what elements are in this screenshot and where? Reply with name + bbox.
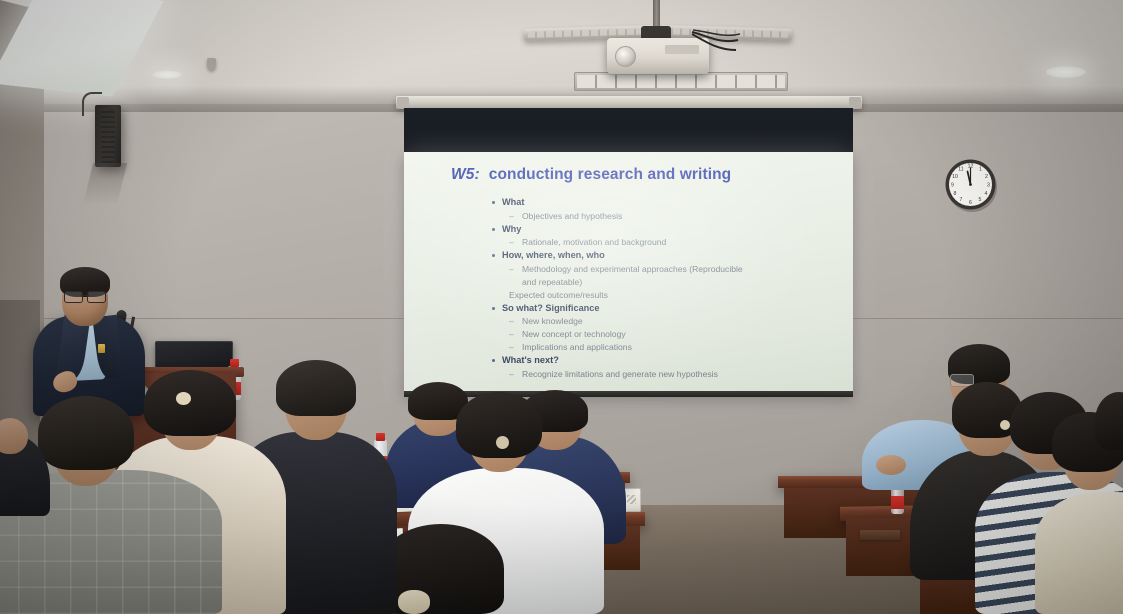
sprinkler-head-icon (207, 58, 216, 70)
slide-bullet: Objectives and hypothesis (490, 210, 843, 222)
svg-text:9: 9 (951, 183, 954, 189)
clock-icon: 12 1 2 3 4 5 6 7 8 9 10 11 (943, 157, 998, 212)
svg-text:6: 6 (969, 200, 972, 206)
lecture-hall-photo: 12 1 2 3 4 5 6 7 8 9 10 11 W5:conducti (0, 0, 1123, 614)
svg-text:11: 11 (958, 167, 963, 173)
wall-clock: 12 1 2 3 4 5 6 7 8 9 10 11 (943, 157, 998, 212)
svg-text:2: 2 (985, 174, 988, 180)
svg-text:1: 1 (979, 167, 982, 173)
slide-bullet-list: What Objectives and hypothesis Why Ratio… (490, 196, 843, 381)
slide-title: W5:conducting research and writing (451, 166, 731, 184)
slide-bullet: What's next? (490, 354, 843, 367)
presenter-badge (98, 344, 105, 353)
svg-text:4: 4 (985, 191, 988, 197)
projector-cables (690, 28, 742, 62)
svg-text:5: 5 (979, 197, 982, 203)
svg-text:7: 7 (960, 197, 963, 203)
slide-title-text: conducting research and writing (489, 166, 732, 183)
wall-speaker-icon (95, 105, 121, 167)
slide-title-prefix: W5: (451, 166, 480, 183)
screen-bottom-bar (404, 391, 853, 397)
notebook (860, 530, 900, 540)
slide-bullet: Methodology and experimental approaches … (490, 263, 843, 275)
slide-bullet: New concept or technology (490, 328, 843, 340)
slide-bullet: Expected outcome/results (490, 289, 843, 301)
slide-bullet: Recognize limitations and generate new h… (490, 368, 843, 380)
slide-bullet: What (490, 196, 843, 209)
screen-dark-backing (404, 108, 853, 154)
slide-bullet: Why (490, 223, 843, 236)
projector-lens-icon (615, 46, 636, 67)
projection-screen: W5:conducting research and writing What … (404, 152, 853, 394)
downlight-icon (152, 70, 182, 79)
slide-bullet: and repeatable) (490, 276, 843, 288)
slide-bullet: So what? Significance (490, 302, 843, 315)
svg-text:3: 3 (987, 183, 990, 189)
svg-text:8: 8 (954, 191, 957, 197)
recessed-ceiling-light (574, 72, 788, 91)
slide-bullet: How, where, when, who (490, 249, 843, 262)
slide-bullet: Implications and applications (490, 341, 843, 353)
hand (876, 455, 906, 475)
slide-bullet: Rationale, motivation and background (490, 236, 843, 248)
slide-bullet: New knowledge (490, 315, 843, 327)
svg-text:10: 10 (952, 174, 958, 180)
downlight-icon (1046, 66, 1086, 78)
glasses-icon (64, 291, 106, 301)
